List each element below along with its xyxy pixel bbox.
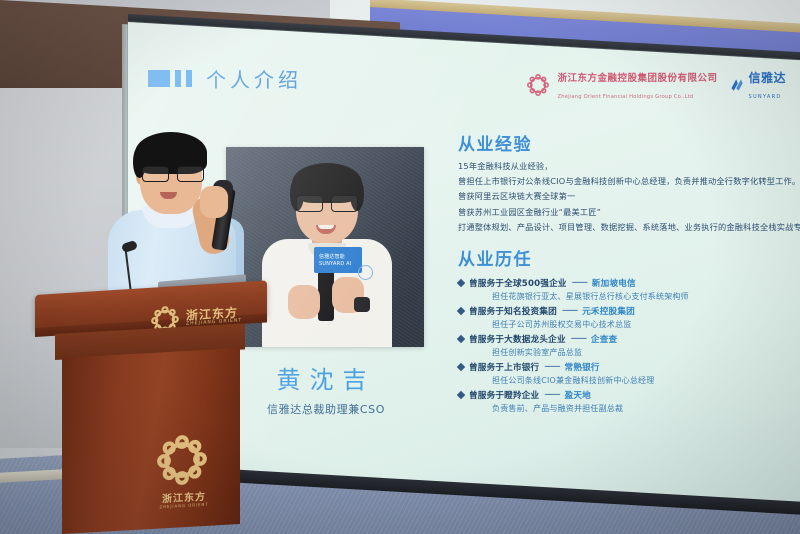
history-dash: —— <box>571 334 586 344</box>
experience-line: 曾获阿里云区块链大赛全球第一 <box>458 192 788 200</box>
shirt-badge-icon <box>358 265 373 280</box>
history-main: 曾服务于瞪羚企业 <box>469 389 539 401</box>
flower-emblem-icon <box>525 72 551 98</box>
history-org: 常熟银行 <box>565 361 600 373</box>
history-main: 曾服务于上市银行 <box>469 361 539 373</box>
microphone-flag: 信雅达智能 SUNYARD AI <box>314 247 362 273</box>
history-dash: —— <box>572 278 587 288</box>
partner-logo: 信雅达 SUNYARD <box>729 69 786 101</box>
page-title: 个人介绍 <box>206 64 302 93</box>
history-dash: —— <box>544 362 559 372</box>
title-bar-narrow-icon <box>175 70 181 87</box>
company-name-en: Zhejiang Orient Financial Holdings Group… <box>557 94 693 100</box>
title-bar-wide-icon <box>148 70 170 87</box>
diamond-bullet-icon <box>457 391 465 399</box>
history-org: 盈天地 <box>565 389 591 401</box>
history-main: 曾服务于大数据龙头企业 <box>469 333 566 345</box>
experience-line: 15年金融科技从业经验， <box>458 162 788 170</box>
history-main: 曾服务于知名投资集团 <box>469 305 557 317</box>
history-sub: 担任子公司苏州股权交易中心技术总监 <box>492 319 788 330</box>
person-role: 信雅达总裁助理兼CSO <box>226 401 426 417</box>
history-org: 元禾控股集团 <box>582 305 635 317</box>
slide-logos: 浙江东方金融控股集团股份有限公司 Zhejiang Orient Financi… <box>525 68 786 102</box>
section-heading-experience: 从业经验 <box>458 130 788 155</box>
history-item: 曾服务于大数据龙头企业 —— 企查查 担任创新实验室产品总监 <box>458 333 788 358</box>
glasses-icon <box>142 166 204 181</box>
history-sub: 担任公司条线CIO兼金融科技创新中心总经理 <box>492 375 788 386</box>
partner-name-en: SUNYARD <box>748 94 781 100</box>
history-sub: 担任花旗银行亚太、星展银行总行核心支付系统架构师 <box>492 291 788 302</box>
history-item: 曾服务于知名投资集团 —— 元禾控股集团 担任子公司苏州股权交易中心技术总监 <box>458 305 788 330</box>
history-main: 曾服务于全球500强企业 <box>469 277 567 289</box>
portrait-hand-left <box>288 285 320 319</box>
section-heading-history: 从业历任 <box>458 245 788 270</box>
history-item: 曾服务于上市银行 —— 常熟银行 担任公司条线CIO兼金融科技创新中心总经理 <box>458 361 788 386</box>
experience-line: 曾获苏州工业园区金融行业“最美工匠” <box>458 208 788 216</box>
microphone-flag-text: 信雅达智能 SUNYARD AI <box>319 254 362 268</box>
title-bar-narrow-icon <box>186 70 192 87</box>
company-name-cn: 浙江东方金融控股集团股份有限公司 <box>557 73 717 84</box>
history-item: 曾服务于全球500强企业 —— 新加坡电信 担任花旗银行亚太、星展银行总行核心支… <box>458 277 788 302</box>
partner-name-cn: 信雅达 <box>748 71 786 85</box>
glasses-icon <box>296 195 358 211</box>
conference-photo-scene: ■■ 浙江东方金融科技论坛 个人介绍 <box>0 0 800 534</box>
slide-text-column: 从业经验 15年金融科技从业经验， 曾担任上市银行对公条线CIO与金融科技创新中… <box>458 130 788 417</box>
slide-title-row: 个人介绍 <box>148 64 302 93</box>
experience-line: 打通整体规划、产品设计、项目管理、数据挖掘、系统落地、业务执行的金融科技全栈实战… <box>458 223 788 231</box>
history-org: 新加坡电信 <box>592 277 636 289</box>
presenter-hand <box>200 186 228 218</box>
experience-line: 曾担任上市银行对公条线CIO与金融科技创新中心总经理，负责并推动全行数字化转型工… <box>458 177 788 185</box>
history-sub: 负责售前、产品与融资并担任副总裁 <box>492 403 788 414</box>
person-name: 黄沈吉 <box>226 360 426 395</box>
sunyard-logo-icon <box>729 77 745 93</box>
history-dash: —— <box>562 306 577 316</box>
history-dash: —— <box>544 390 559 400</box>
person-name-block: 黄沈吉 信雅达总裁助理兼CSO <box>226 360 426 417</box>
diamond-bullet-icon <box>457 279 465 287</box>
diamond-bullet-icon <box>457 307 465 315</box>
history-sub: 担任创新实验室产品总监 <box>492 347 788 358</box>
company-logo: 浙江东方金融控股集团股份有限公司 Zhejiang Orient Financi… <box>525 68 717 102</box>
history-item: 曾服务于瞪羚企业 —— 盈天地 负责售前、产品与融资并担任副总裁 <box>458 389 788 414</box>
wristwatch-icon <box>354 297 370 312</box>
flower-emblem-icon <box>152 428 212 491</box>
diamond-bullet-icon <box>457 363 465 371</box>
history-org: 企查查 <box>591 333 617 345</box>
diamond-bullet-icon <box>457 335 465 343</box>
